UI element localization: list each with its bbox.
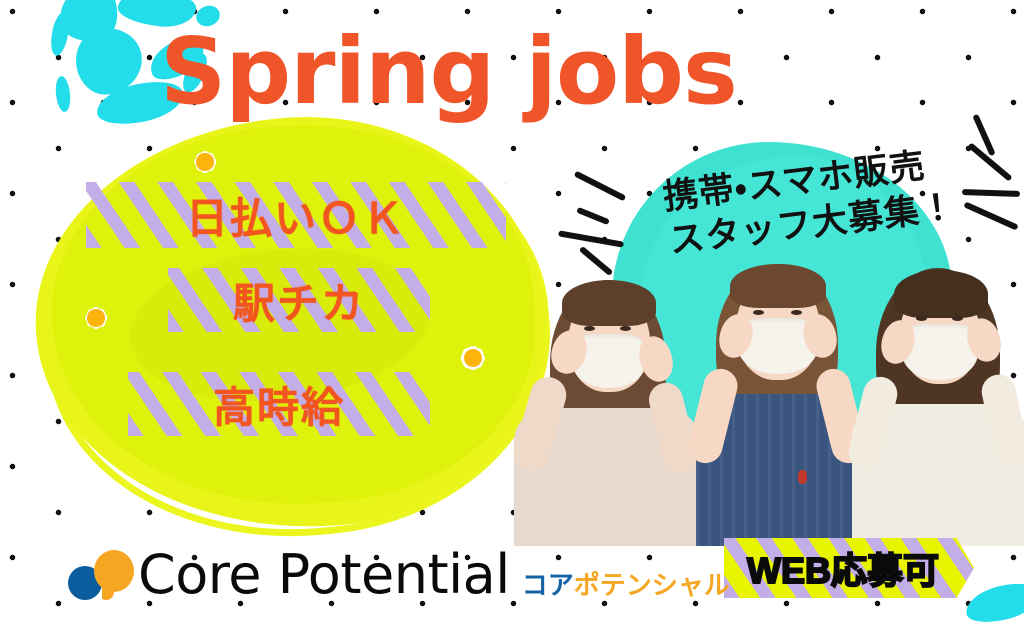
eye [952,316,963,321]
recruitment-poster: Spring jobs 日払いＯＫ 駅チカ 高時給 携帯・スマホ販売 スタッフ大… [0,0,1024,627]
staff-photo [506,256,1006,546]
hair-fringe [894,270,988,318]
eye [620,326,631,331]
web-apply-badge-label: WEB応募可 [747,542,939,594]
feature-band-label: 駅チカ [233,270,365,331]
web-apply-badge[interactable]: WEB応募可 [724,538,974,598]
daisy-flower-icon [181,138,229,186]
company-kana: コアポテンシャル [522,572,730,602]
eye [584,326,595,331]
feature-band-label: 高時給 [213,374,345,435]
hair-fringe [730,264,826,308]
staff-person-right [836,256,1024,546]
eye [916,316,927,321]
hair-fringe [562,280,656,326]
feature-band-high-wage: 高時給 [128,372,430,436]
company-logo[interactable]: Core Potential コアポテンシャル [68,548,730,602]
daisy-flower-icon [447,332,499,384]
company-kana-first: コア [522,570,574,600]
shirt-logo [798,470,807,484]
feature-band-label: 日払いＯＫ [186,185,406,246]
feature-band-near-station: 駅チカ [168,268,430,332]
daisy-flower-icon [72,294,120,342]
feature-band-daily-pay: 日払いＯＫ [86,182,506,248]
poster-title: Spring jobs [160,18,737,125]
company-wordmark: Core Potential [138,548,510,602]
eye [753,310,764,315]
eye [791,310,802,315]
speech-bubble-icon [68,550,132,602]
speech-bubble-orange-icon [94,550,134,592]
company-kana-second: ポテンシャル [574,570,730,600]
